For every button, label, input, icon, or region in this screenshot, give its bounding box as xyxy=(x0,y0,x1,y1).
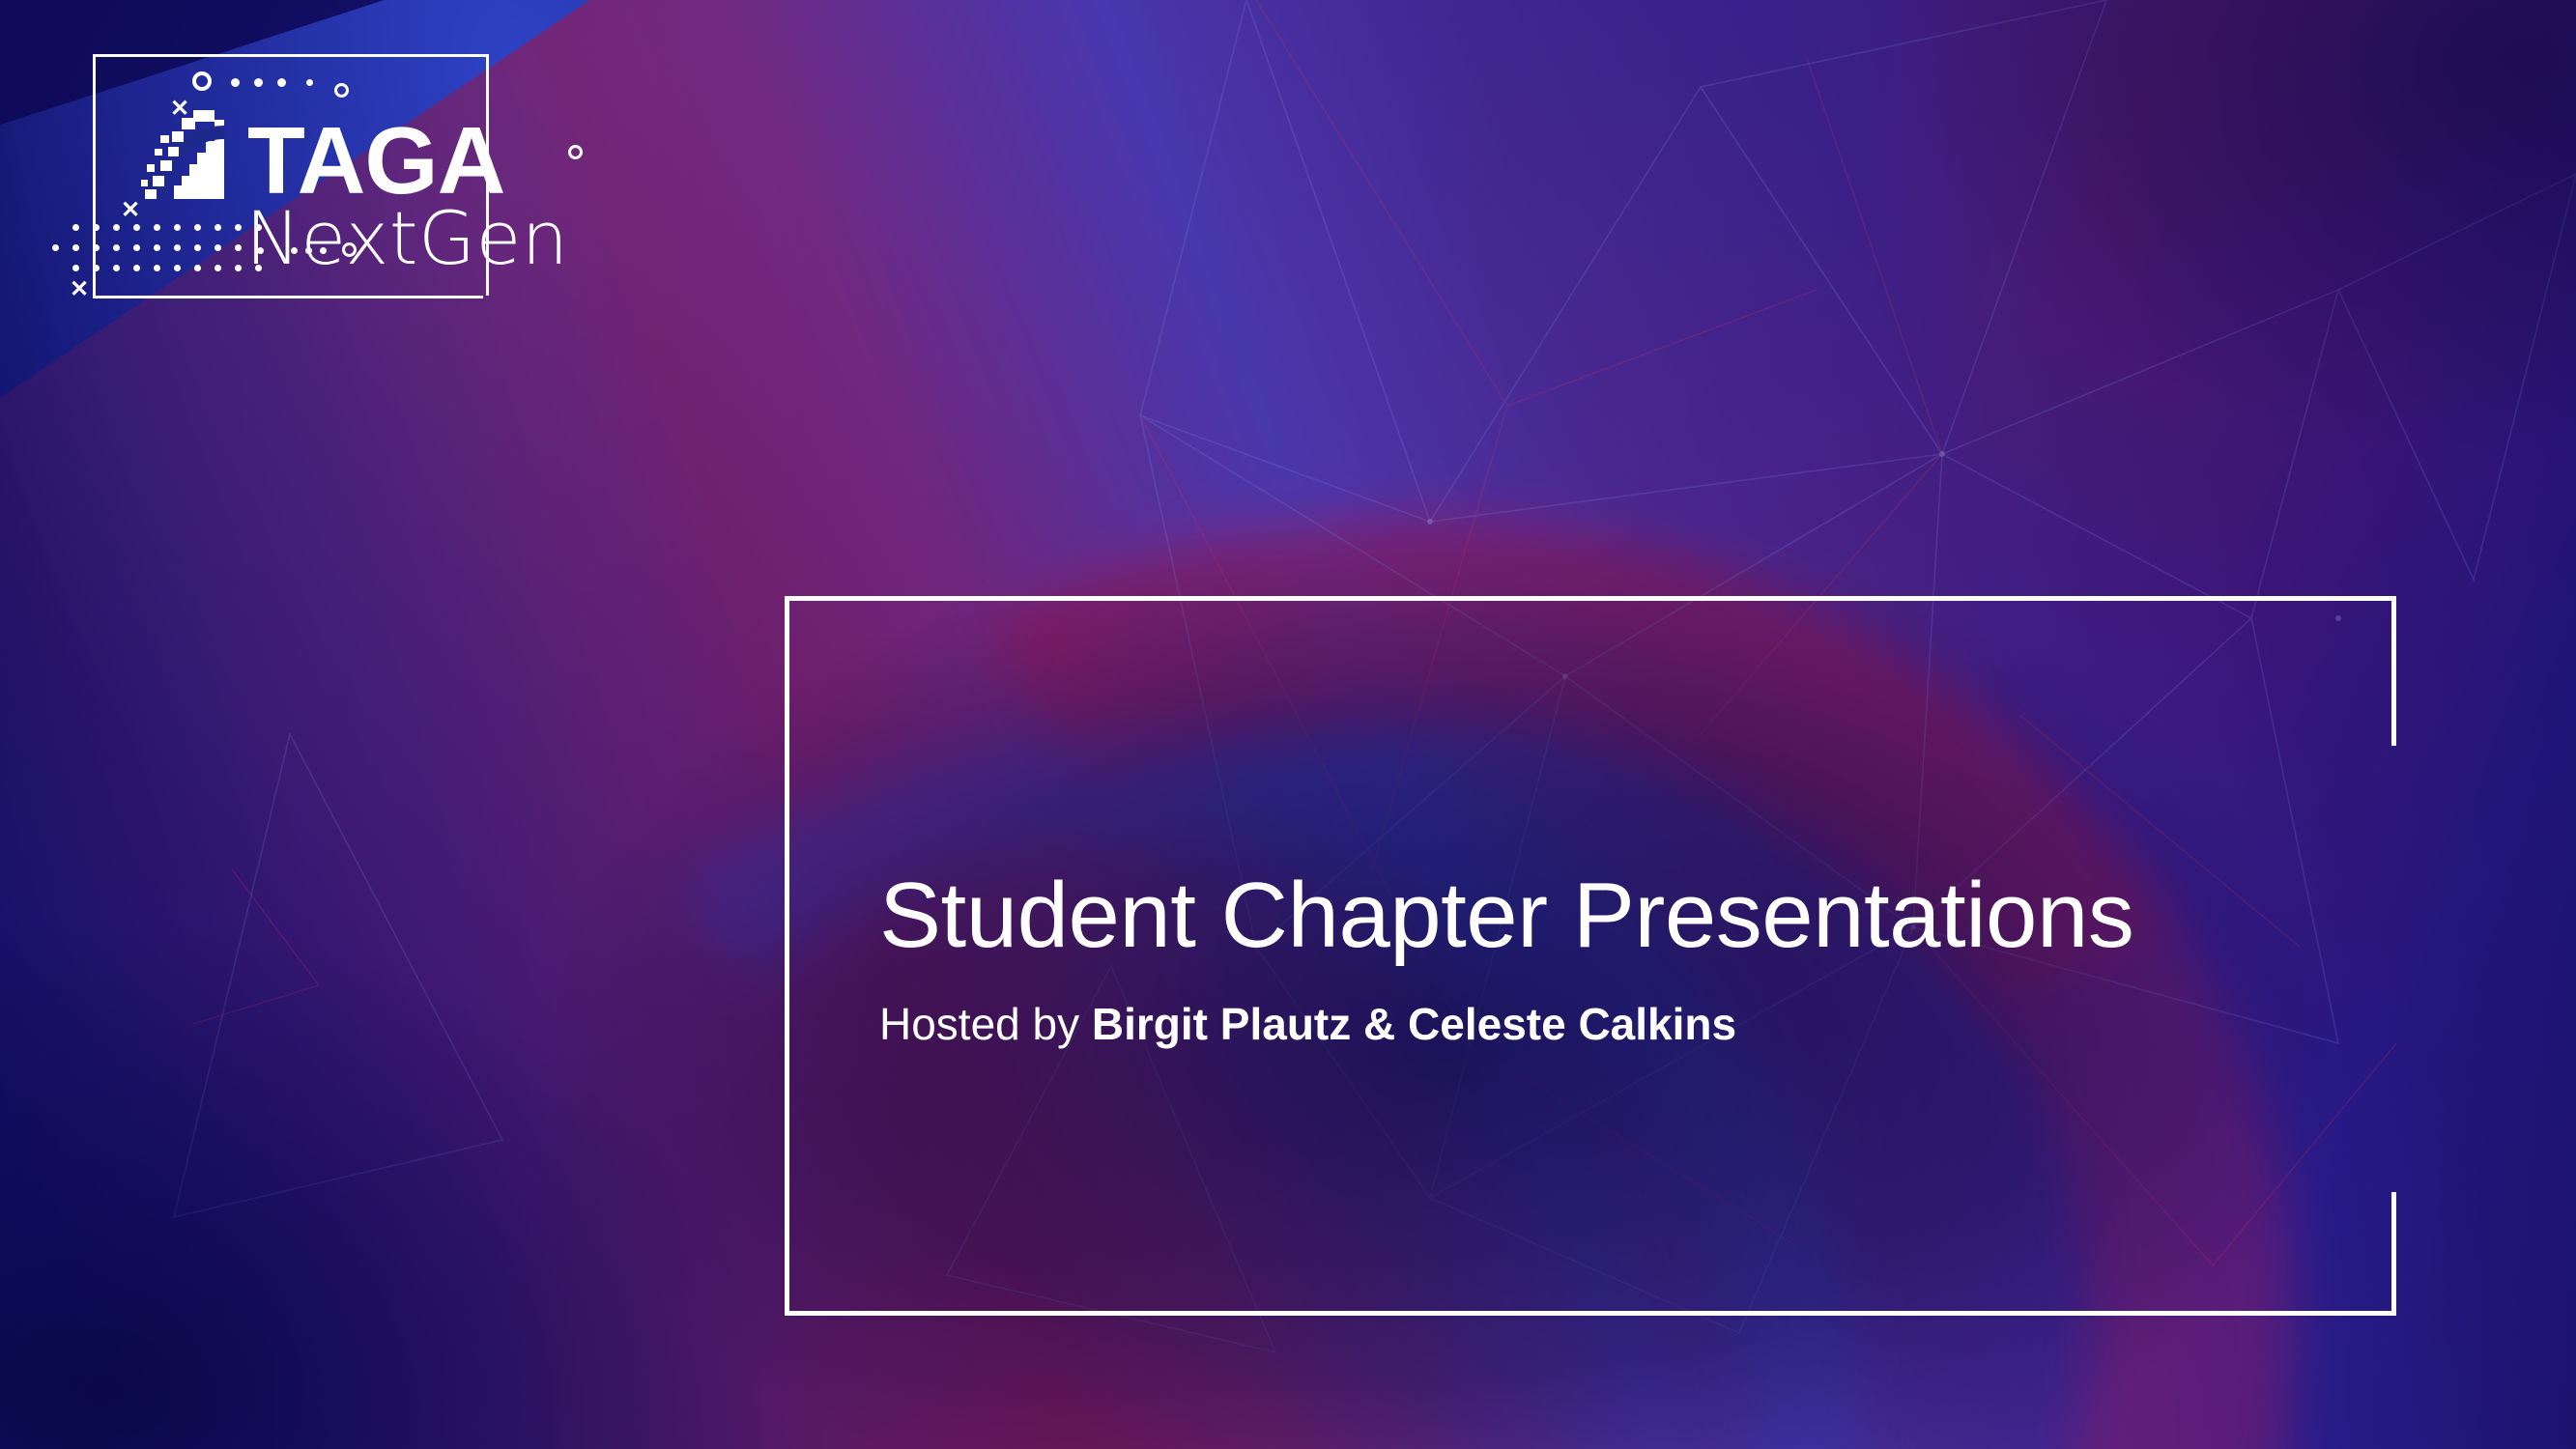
circle-outline-icon xyxy=(568,145,583,159)
dot-icon xyxy=(254,78,263,87)
subtitle-host-names: Birgit Plautz & Celeste Calkins xyxy=(1092,999,1736,1049)
frame-bottom-edge xyxy=(785,1311,2396,1316)
x-mark-icon: ✕ xyxy=(70,278,89,301)
logo-wordmark: TAGA xyxy=(247,122,504,199)
pixel-arc-logo-icon xyxy=(139,110,243,199)
dot-icon xyxy=(277,78,286,87)
x-mark-icon: ✕ xyxy=(121,199,140,222)
logo-lockup: TAGA NextGen xyxy=(139,110,568,276)
subtitle-prefix: Hosted by xyxy=(879,999,1092,1049)
page-title: Student Chapter Presentations xyxy=(879,867,2387,965)
dot-icon xyxy=(306,79,313,86)
dot-icon xyxy=(231,78,240,87)
circle-outline-icon xyxy=(334,83,349,98)
slide-subtitle: Hosted by Birgit Plautz & Celeste Calkin… xyxy=(879,998,2387,1051)
frame-left-edge xyxy=(785,596,789,1316)
frame-top-edge xyxy=(785,596,2396,601)
taga-nextgen-logo: ✕ ✕ ✕ xyxy=(93,54,557,296)
frame-right-bottom-edge xyxy=(2391,1192,2396,1316)
frame-right-top-edge xyxy=(2391,596,2396,746)
title-block: Student Chapter Presentations Hosted by … xyxy=(879,867,2387,1051)
circle-outline-icon xyxy=(192,71,212,91)
presentation-slide: ✕ ✕ ✕ xyxy=(0,0,2576,1449)
logo-sub-wordmark: NextGen xyxy=(245,201,568,276)
